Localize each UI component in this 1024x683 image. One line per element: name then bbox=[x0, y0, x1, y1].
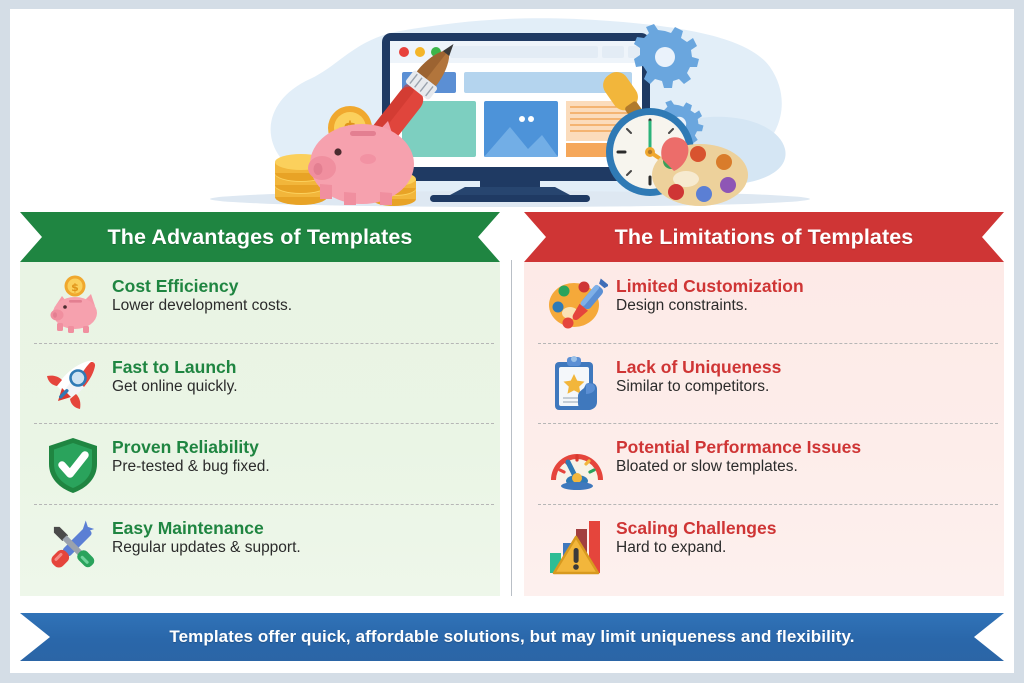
comparison-columns: The Advantages of Templates $ bbox=[20, 212, 1004, 596]
speedometer-icon bbox=[546, 434, 608, 496]
list-item[interactable]: Limited Customization Design constraints… bbox=[524, 262, 1004, 343]
list-item[interactable]: Scaling Challenges Hard to expand. bbox=[524, 504, 1004, 585]
list-item-desc: Pre-tested & bug fixed. bbox=[112, 458, 270, 475]
list-item[interactable]: Proven Reliability Pre-tested & bug fixe… bbox=[20, 423, 500, 504]
palette-brush-icon bbox=[546, 273, 608, 335]
list-item-title: Potential Performance Issues bbox=[616, 437, 861, 457]
limitations-banner: The Limitations of Templates bbox=[524, 212, 1004, 262]
bar-chart-warning-icon bbox=[546, 515, 608, 577]
hero-illustration: $ bbox=[10, 9, 1014, 212]
list-item-title: Easy Maintenance bbox=[112, 518, 264, 538]
list-item[interactable]: Lack of Uniqueness Similar to competitor… bbox=[524, 343, 1004, 424]
advantages-banner-title: The Advantages of Templates bbox=[108, 225, 413, 250]
list-item-desc: Get online quickly. bbox=[112, 378, 238, 395]
list-item-title: Cost Efficiency bbox=[112, 276, 238, 296]
list-item-desc: Design constraints. bbox=[616, 297, 748, 314]
list-item-title: Lack of Uniqueness bbox=[616, 357, 781, 377]
monitor-icon bbox=[382, 33, 650, 202]
list-item-desc: Similar to competitors. bbox=[616, 378, 769, 395]
limitations-list: Limited Customization Design constraints… bbox=[524, 262, 1004, 596]
list-item[interactable]: Fast to Launch Get online quickly. bbox=[20, 343, 500, 424]
list-item-title: Fast to Launch bbox=[112, 357, 236, 377]
infographic-frame: $ bbox=[0, 0, 1024, 683]
svg-text:$: $ bbox=[71, 281, 79, 294]
rocket-icon bbox=[42, 354, 104, 416]
summary-banner: Templates offer quick, affordable soluti… bbox=[20, 613, 1004, 661]
shield-check-icon bbox=[42, 434, 104, 496]
list-item[interactable]: $ C bbox=[20, 262, 500, 343]
advantages-column: The Advantages of Templates $ bbox=[20, 212, 500, 596]
infographic-canvas: $ bbox=[10, 9, 1014, 673]
list-item-title: Limited Customization bbox=[616, 276, 804, 296]
limitations-column: The Limitations of Templates bbox=[524, 212, 1004, 596]
image-placeholder bbox=[484, 101, 558, 157]
list-item[interactable]: Potential Performance Issues Bloated or … bbox=[524, 423, 1004, 504]
list-item[interactable]: Easy Maintenance Regular updates & suppo… bbox=[20, 504, 500, 585]
list-item-desc: Regular updates & support. bbox=[112, 539, 301, 556]
limitations-banner-title: The Limitations of Templates bbox=[615, 225, 914, 250]
column-divider bbox=[511, 260, 512, 596]
list-item-desc: Lower development costs. bbox=[112, 297, 292, 314]
wrench-screwdriver-icon bbox=[42, 515, 104, 577]
advantages-list: $ C bbox=[20, 262, 500, 596]
summary-banner-text: Templates offer quick, affordable soluti… bbox=[169, 627, 854, 647]
list-item-title: Proven Reliability bbox=[112, 437, 259, 457]
list-item-desc: Bloated or slow templates. bbox=[616, 458, 798, 475]
clipboard-star-icon bbox=[546, 354, 608, 416]
piggy-bank-icon: $ bbox=[42, 273, 104, 335]
list-item-title: Scaling Challenges bbox=[616, 518, 776, 538]
list-item-desc: Hard to expand. bbox=[616, 539, 726, 556]
advantages-banner: The Advantages of Templates bbox=[20, 212, 500, 262]
